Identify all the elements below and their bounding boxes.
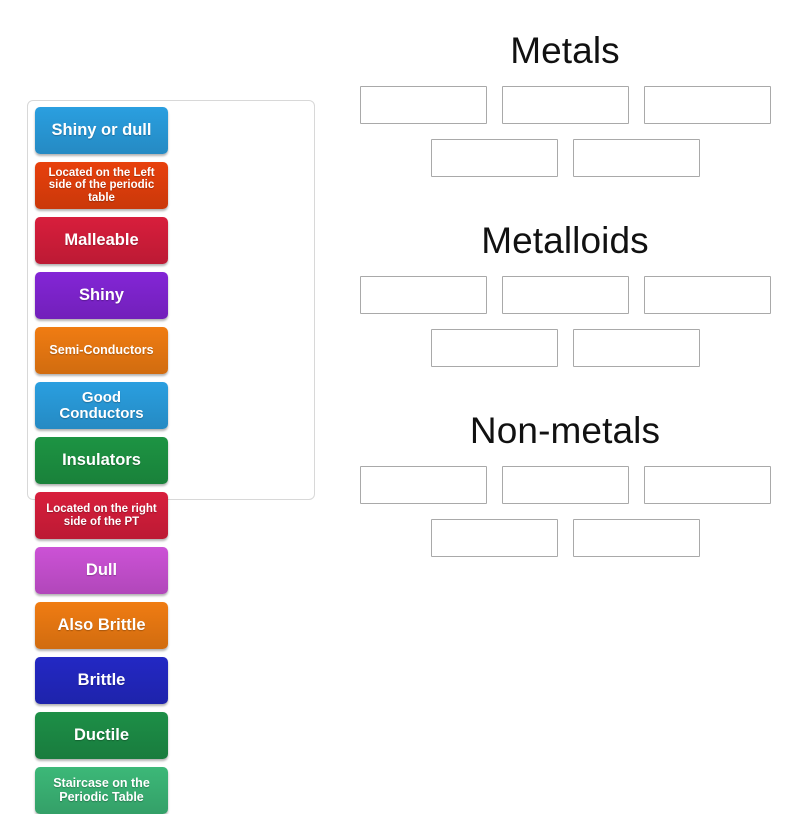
drop-slot[interactable]: [431, 329, 558, 367]
drop-slot[interactable]: [360, 86, 487, 124]
tile-label: Insulators: [39, 452, 164, 469]
drop-slot[interactable]: [360, 276, 487, 314]
drop-slot[interactable]: [431, 139, 558, 177]
category-group: Metalloids: [340, 204, 790, 394]
category-title: Non-metals: [340, 394, 790, 449]
drop-zone-rows: [340, 86, 790, 177]
tile-grid: Shiny or dullLocated on the Left side of…: [35, 107, 307, 814]
drop-slot[interactable]: [502, 276, 629, 314]
draggable-tile[interactable]: Also Brittle: [35, 602, 168, 649]
draggable-tile[interactable]: Good Conductors: [35, 382, 168, 429]
category-title: Metalloids: [340, 204, 790, 259]
drop-slot[interactable]: [644, 466, 771, 504]
tile-label: Shiny or dull: [39, 122, 164, 139]
drop-slot[interactable]: [360, 466, 487, 504]
category-group: Non-metals: [340, 394, 790, 584]
tile-label: Semi-Conductors: [39, 344, 164, 357]
drop-slot[interactable]: [573, 139, 700, 177]
drop-slot[interactable]: [573, 329, 700, 367]
tile-label: Also Brittle: [39, 617, 164, 634]
tile-label: Shiny: [39, 287, 164, 304]
tile-label: Located on the right side of the PT: [39, 503, 164, 527]
drop-zone-rows: [340, 276, 790, 367]
word-bank-panel: Shiny or dullLocated on the Left side of…: [27, 100, 315, 500]
drop-zone-row: [340, 519, 790, 557]
tile-label: Brittle: [39, 672, 164, 689]
drop-zone-row: [340, 86, 790, 124]
drop-zone-rows: [340, 466, 790, 557]
draggable-tile[interactable]: Dull: [35, 547, 168, 594]
drop-slot[interactable]: [431, 519, 558, 557]
draggable-tile[interactable]: Located on the Left side of the periodic…: [35, 162, 168, 209]
draggable-tile[interactable]: Insulators: [35, 437, 168, 484]
draggable-tile[interactable]: Ductile: [35, 712, 168, 759]
category-group: Metals: [340, 14, 790, 204]
draggable-tile[interactable]: Located on the right side of the PT: [35, 492, 168, 539]
drop-slot[interactable]: [644, 276, 771, 314]
draggable-tile[interactable]: Shiny or dull: [35, 107, 168, 154]
tile-label: Located on the Left side of the periodic…: [39, 167, 164, 204]
category-title: Metals: [340, 14, 790, 69]
draggable-tile[interactable]: Brittle: [35, 657, 168, 704]
draggable-tile[interactable]: Malleable: [35, 217, 168, 264]
draggable-tile[interactable]: Semi-Conductors: [35, 327, 168, 374]
category-list: MetalsMetalloidsNon-metals: [340, 14, 790, 586]
drop-zone-row: [340, 276, 790, 314]
tile-label: Good Conductors: [39, 390, 164, 422]
drop-slot[interactable]: [502, 86, 629, 124]
draggable-tile[interactable]: Shiny: [35, 272, 168, 319]
drop-zone-row: [340, 329, 790, 367]
tile-label: Ductile: [39, 727, 164, 744]
drop-slot[interactable]: [644, 86, 771, 124]
tile-label: Dull: [39, 562, 164, 579]
drop-slot[interactable]: [573, 519, 700, 557]
tile-label: Staircase on the Periodic Table: [39, 777, 164, 804]
drop-zone-row: [340, 466, 790, 504]
drop-slot[interactable]: [502, 466, 629, 504]
draggable-tile[interactable]: Staircase on the Periodic Table: [35, 767, 168, 814]
tile-label: Malleable: [39, 232, 164, 249]
drop-zone-row: [340, 139, 790, 177]
